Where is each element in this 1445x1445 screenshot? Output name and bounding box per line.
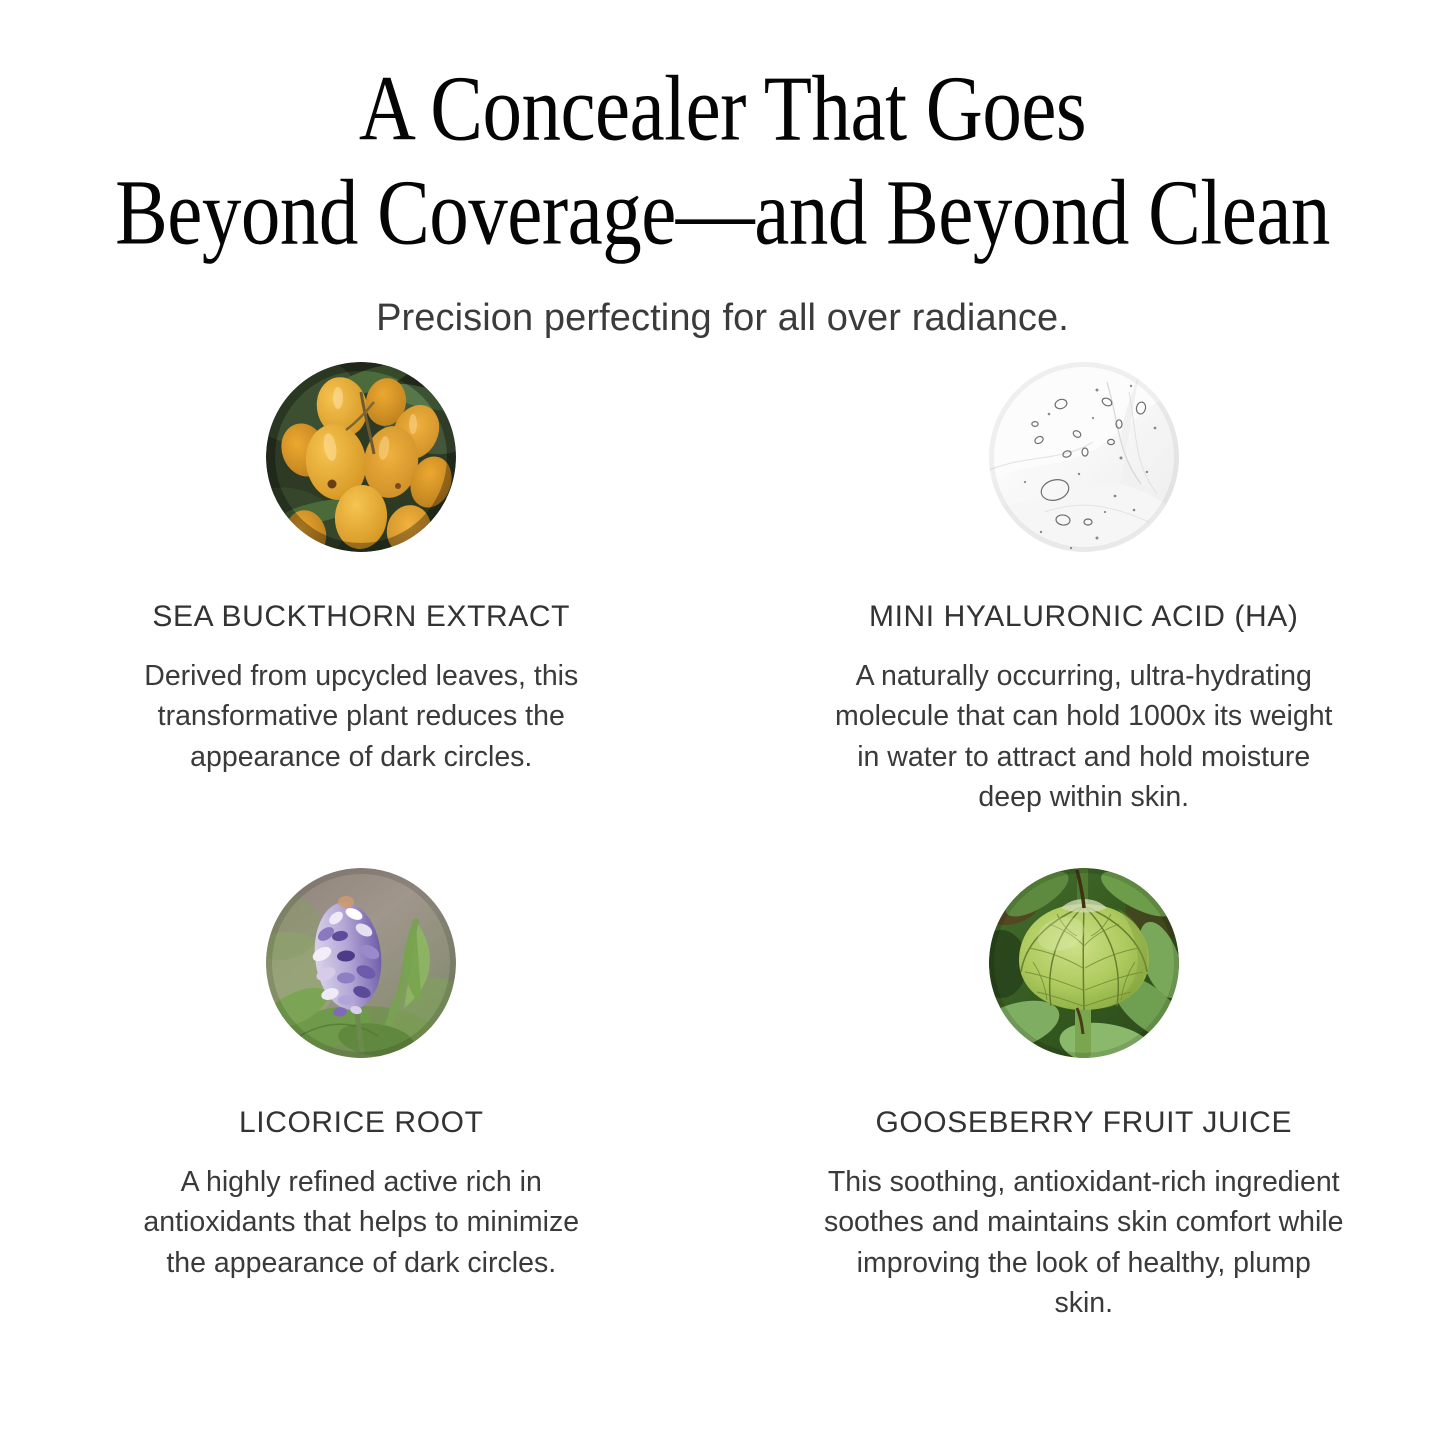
ingredient-card-gooseberry: GOOSEBERRY FRUIT JUICE This soothing, an… <box>723 868 1445 1324</box>
ingredient-title: GOOSEBERRY FRUIT JUICE <box>875 1106 1292 1140</box>
headline-line-1: A Concealer That Goes <box>93 58 1353 162</box>
hyaluronic-acid-gel-texture-photo <box>989 362 1179 552</box>
page-subtitle: Precision perfecting for all over radian… <box>0 297 1445 340</box>
page-header: A Concealer That Goes Beyond Coverage—an… <box>0 0 1445 340</box>
licorice-root-flower-photo <box>266 868 456 1058</box>
headline-line-2: Beyond Coverage—and Beyond Clean <box>93 162 1353 266</box>
ingredient-description: A naturally occurring, ultra-hydrating m… <box>824 656 1344 818</box>
sea-buckthorn-berries-photo <box>266 362 456 552</box>
ingredient-card-sea-buckthorn: SEA BUCKTHORN EXTRACT Derived from upcyc… <box>0 362 723 868</box>
ingredient-card-licorice-root: LICORICE ROOT A highly refined active ri… <box>0 868 723 1324</box>
ingredient-title: MINI HYALURONIC ACID (HA) <box>869 600 1298 634</box>
ingredient-description: Derived from upcycled leaves, this trans… <box>126 656 596 777</box>
ingredient-card-hyaluronic-acid: MINI HYALURONIC ACID (HA) A naturally oc… <box>723 362 1445 868</box>
ingredient-description: A highly refined active rich in antioxid… <box>126 1162 596 1283</box>
ingredient-benefits-page: A Concealer That Goes Beyond Coverage—an… <box>0 0 1445 1445</box>
ingredient-grid: SEA BUCKTHORN EXTRACT Derived from upcyc… <box>0 362 1445 1324</box>
ingredient-title: SEA BUCKTHORN EXTRACT <box>152 600 570 634</box>
gooseberry-husk-photo <box>989 868 1179 1058</box>
ingredient-description: This soothing, antioxidant-rich ingredie… <box>824 1162 1344 1324</box>
page-title: A Concealer That Goes Beyond Coverage—an… <box>93 58 1353 267</box>
ingredient-title: LICORICE ROOT <box>239 1106 484 1140</box>
